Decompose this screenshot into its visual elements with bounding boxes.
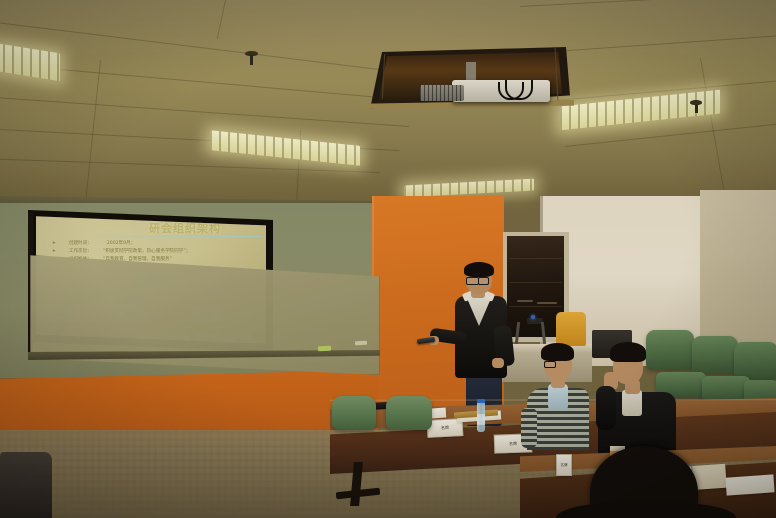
whiteboard-eraser — [318, 346, 331, 352]
audience-1-hair — [541, 343, 574, 361]
presenter-hair — [464, 262, 494, 277]
name-card: 名牌 — [556, 454, 572, 476]
bottle-label — [477, 414, 485, 425]
whiteboard-marker — [355, 341, 367, 346]
photo-scene: 研会组织架构 ➤ 创建时间： 2002年9月； ➤ 工作宗旨： “积极贯彻学院政… — [0, 0, 776, 518]
status-led-icon — [531, 315, 535, 319]
ceiling-light-fixture — [0, 43, 60, 81]
ceiling-tile-line — [85, 60, 101, 204]
ceiling-tile-line — [520, 0, 776, 7]
bullet-marker-icon: ➤ — [52, 241, 56, 246]
ceiling-tile-line — [217, 0, 226, 39]
ceiling — [0, 0, 776, 205]
chair-yellow — [556, 312, 586, 346]
stacked-chair — [692, 336, 738, 374]
bullet-marker-icon: ➤ — [52, 249, 56, 254]
sprinkler-icon — [250, 55, 253, 65]
slide-bullet: ➤ 创建时间： 2002年9月； — [52, 240, 135, 246]
bullet-text: 2002年9月； — [107, 240, 135, 246]
audience-1-arm — [521, 408, 537, 448]
stacked-chair — [734, 342, 776, 380]
presenter-hand-right — [492, 358, 504, 368]
ceiling-tile-line — [0, 96, 409, 127]
stacked-chair-seat — [702, 376, 750, 402]
projector-cable — [505, 80, 533, 100]
audience-2-arm — [596, 386, 616, 430]
bullet-label: 工作宗旨： — [69, 248, 92, 254]
foreground-chair — [0, 452, 52, 518]
sprinkler-icon — [695, 104, 698, 113]
audience-1-glasses — [544, 361, 556, 368]
chair — [332, 396, 376, 430]
ceiling-light-fixture — [404, 179, 534, 198]
bottle-cap — [477, 399, 485, 403]
ceiling-tile-line — [540, 34, 776, 53]
chair — [386, 396, 432, 430]
projector-vent — [420, 85, 464, 101]
bullet-label: 创建时间： — [69, 240, 92, 246]
paper-sheet — [725, 474, 774, 495]
stacked-chair — [646, 330, 694, 370]
slide-bullet: ➤ 工作宗旨： “积极贯彻学院政策，热心服务学院同学”； — [52, 248, 190, 254]
floor-highlight — [0, 430, 340, 450]
wall-right — [700, 190, 776, 360]
projector-mount-bracket — [466, 62, 476, 80]
ceiling-light-fixture — [210, 130, 360, 166]
ceiling-tile-line — [700, 58, 725, 196]
bullet-text: “积极贯彻学院政策，热心服务学院同学”； — [103, 248, 190, 254]
audience-2-hair — [610, 342, 646, 362]
presenter-glasses — [478, 277, 489, 285]
